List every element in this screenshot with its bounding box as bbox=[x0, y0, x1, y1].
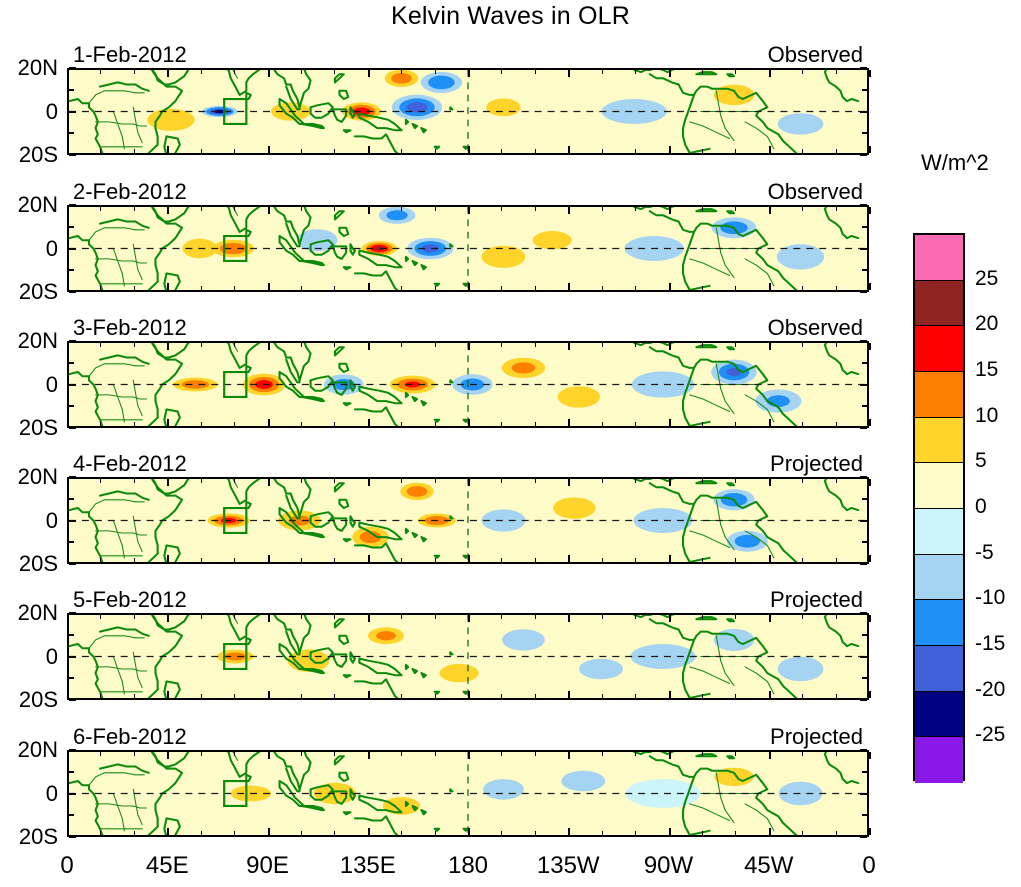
axis-tick bbox=[69, 677, 74, 679]
y-tick-label: 0 bbox=[0, 644, 58, 670]
axis-minor-tick bbox=[201, 343, 202, 347]
axis-minor-tick bbox=[535, 831, 536, 835]
axis-tick bbox=[860, 248, 867, 250]
axis-minor-tick bbox=[602, 558, 603, 562]
axis-minor-tick bbox=[735, 694, 736, 698]
axis-tick bbox=[167, 752, 169, 759]
axis-minor-tick bbox=[401, 558, 402, 562]
axis-tick bbox=[860, 111, 867, 113]
axis-tick bbox=[69, 656, 76, 658]
axis-tick bbox=[860, 836, 867, 838]
map-panel-3 bbox=[67, 341, 869, 428]
axis-minor-tick bbox=[535, 558, 536, 562]
axis-minor-tick bbox=[735, 149, 736, 153]
axis-tick bbox=[769, 146, 771, 153]
y-tick-label: 0 bbox=[0, 508, 58, 534]
axis-minor-tick bbox=[100, 479, 101, 483]
axis-tick bbox=[862, 677, 867, 679]
axis-minor-tick bbox=[635, 422, 636, 426]
axis-tick bbox=[860, 476, 867, 478]
axis-minor-tick bbox=[836, 694, 837, 698]
axis-tick bbox=[669, 479, 671, 486]
axis-tick bbox=[69, 154, 76, 156]
axis-minor-tick bbox=[401, 343, 402, 347]
axis-tick bbox=[368, 752, 370, 759]
axis-tick bbox=[860, 612, 867, 614]
axis-tick bbox=[860, 749, 867, 751]
axis-tick bbox=[368, 146, 370, 153]
axis-tick bbox=[568, 419, 570, 426]
axis-tick bbox=[669, 752, 671, 759]
axis-minor-tick bbox=[334, 70, 335, 74]
y-tick-label: 20N bbox=[0, 600, 58, 626]
axis-tick bbox=[368, 419, 370, 426]
axis-tick bbox=[368, 615, 370, 622]
axis-minor-tick bbox=[201, 615, 202, 619]
axis-tick bbox=[862, 132, 867, 134]
axis-minor-tick bbox=[702, 615, 703, 619]
axis-tick bbox=[869, 615, 871, 622]
axis-tick bbox=[69, 132, 74, 134]
axis-minor-tick bbox=[201, 286, 202, 290]
axis-minor-tick bbox=[234, 558, 235, 562]
axis-tick bbox=[69, 269, 74, 271]
axis-tick bbox=[368, 70, 370, 77]
axis-tick bbox=[568, 479, 570, 486]
axis-minor-tick bbox=[535, 422, 536, 426]
x-tick-label: 90W bbox=[614, 852, 724, 880]
axis-minor-tick bbox=[602, 615, 603, 619]
y-tick-label: 20N bbox=[0, 464, 58, 490]
axis-tick bbox=[669, 146, 671, 153]
axis-tick bbox=[869, 419, 871, 426]
axis-minor-tick bbox=[301, 70, 302, 74]
axis-tick bbox=[869, 479, 871, 486]
axis-tick bbox=[860, 656, 867, 658]
axis-tick bbox=[769, 691, 771, 698]
axis-tick bbox=[468, 146, 470, 153]
axis-minor-tick bbox=[234, 149, 235, 153]
axis-minor-tick bbox=[501, 207, 502, 211]
axis-tick bbox=[167, 555, 169, 562]
x-tick-label: 45W bbox=[714, 852, 824, 880]
colorbar-band-9 bbox=[915, 646, 963, 692]
axis-tick bbox=[69, 89, 74, 91]
axis-tick bbox=[468, 828, 470, 835]
colorbar-tick-label: 5 bbox=[975, 449, 987, 473]
y-tick-label: 20S bbox=[0, 142, 58, 168]
panel-mode-label-3: Observed bbox=[67, 315, 863, 341]
axis-tick bbox=[669, 555, 671, 562]
axis-tick bbox=[268, 615, 270, 622]
axis-minor-tick bbox=[635, 831, 636, 835]
axis-tick bbox=[568, 752, 570, 759]
axis-minor-tick bbox=[635, 694, 636, 698]
olr-field bbox=[69, 479, 867, 562]
axis-tick bbox=[69, 699, 76, 701]
axis-tick bbox=[468, 752, 470, 759]
axis-minor-tick bbox=[802, 752, 803, 756]
axis-minor-tick bbox=[100, 343, 101, 347]
axis-minor-tick bbox=[334, 343, 335, 347]
axis-tick bbox=[268, 283, 270, 290]
axis-tick bbox=[769, 207, 771, 214]
axis-minor-tick bbox=[635, 343, 636, 347]
axis-minor-tick bbox=[100, 207, 101, 211]
axis-minor-tick bbox=[802, 207, 803, 211]
axis-minor-tick bbox=[435, 831, 436, 835]
axis-minor-tick bbox=[602, 149, 603, 153]
axis-tick bbox=[869, 207, 871, 214]
axis-minor-tick bbox=[635, 207, 636, 211]
axis-tick bbox=[69, 248, 76, 250]
axis-tick bbox=[69, 405, 74, 407]
x-tick-label: 180 bbox=[413, 852, 523, 880]
axis-tick bbox=[69, 111, 76, 113]
panel-mode-label-5: Projected bbox=[67, 587, 863, 613]
axis-minor-tick bbox=[802, 343, 803, 347]
axis-tick bbox=[862, 814, 867, 816]
axis-minor-tick bbox=[334, 422, 335, 426]
axis-minor-tick bbox=[234, 752, 235, 756]
colorbar-tick-label: 0 bbox=[975, 495, 987, 519]
axis-tick bbox=[862, 541, 867, 543]
axis-tick bbox=[69, 793, 76, 795]
axis-tick bbox=[568, 828, 570, 835]
axis-minor-tick bbox=[501, 831, 502, 835]
y-tick-label: 20N bbox=[0, 737, 58, 763]
axis-minor-tick bbox=[100, 831, 101, 835]
axis-minor-tick bbox=[836, 343, 837, 347]
axis-tick bbox=[860, 793, 867, 795]
axis-tick bbox=[669, 207, 671, 214]
axis-minor-tick bbox=[702, 70, 703, 74]
axis-minor-tick bbox=[836, 207, 837, 211]
axis-minor-tick bbox=[401, 752, 402, 756]
axis-minor-tick bbox=[201, 558, 202, 562]
axis-minor-tick bbox=[201, 831, 202, 835]
x-tick-label: 0 bbox=[12, 852, 122, 880]
colorbar-tick-label: -10 bbox=[975, 586, 1005, 610]
y-tick-label: 20S bbox=[0, 687, 58, 713]
axis-minor-tick bbox=[836, 558, 837, 562]
axis-minor-tick bbox=[735, 343, 736, 347]
axis-tick bbox=[167, 343, 169, 350]
axis-minor-tick bbox=[836, 479, 837, 483]
axis-tick bbox=[167, 70, 169, 77]
colorbar-band-8 bbox=[915, 600, 963, 646]
axis-minor-tick bbox=[234, 286, 235, 290]
axis-minor-tick bbox=[100, 615, 101, 619]
axis-minor-tick bbox=[435, 694, 436, 698]
axis-tick bbox=[67, 343, 69, 350]
axis-minor-tick bbox=[234, 694, 235, 698]
axis-tick bbox=[860, 520, 867, 522]
y-tick-label: 20S bbox=[0, 415, 58, 441]
axis-minor-tick bbox=[535, 694, 536, 698]
axis-tick bbox=[669, 70, 671, 77]
axis-tick bbox=[769, 283, 771, 290]
axis-minor-tick bbox=[702, 422, 703, 426]
map-panel-2 bbox=[67, 205, 869, 292]
axis-tick bbox=[167, 419, 169, 426]
colorbar-tick-label: 10 bbox=[975, 404, 998, 428]
colorbar-tick-label: 15 bbox=[975, 358, 998, 382]
axis-tick bbox=[769, 752, 771, 759]
x-tick-label: 45E bbox=[112, 852, 222, 880]
axis-tick bbox=[862, 362, 867, 364]
axis-tick bbox=[69, 520, 76, 522]
axis-minor-tick bbox=[501, 558, 502, 562]
axis-tick bbox=[67, 146, 69, 153]
axis-tick bbox=[268, 207, 270, 214]
axis-minor-tick bbox=[501, 752, 502, 756]
axis-tick bbox=[869, 555, 871, 562]
axis-minor-tick bbox=[836, 752, 837, 756]
axis-tick bbox=[268, 752, 270, 759]
axis-tick bbox=[368, 479, 370, 486]
axis-minor-tick bbox=[134, 752, 135, 756]
colorbar-tick-label: -20 bbox=[975, 678, 1005, 702]
axis-minor-tick bbox=[134, 70, 135, 74]
axis-minor-tick bbox=[735, 286, 736, 290]
colorbar bbox=[913, 233, 965, 781]
axis-tick bbox=[368, 828, 370, 835]
axis-tick bbox=[869, 691, 871, 698]
axis-minor-tick bbox=[735, 70, 736, 74]
axis-tick bbox=[568, 691, 570, 698]
axis-tick bbox=[869, 343, 871, 350]
axis-minor-tick bbox=[401, 615, 402, 619]
axis-minor-tick bbox=[401, 149, 402, 153]
axis-minor-tick bbox=[201, 149, 202, 153]
axis-minor-tick bbox=[401, 286, 402, 290]
axis-tick bbox=[862, 226, 867, 228]
axis-tick bbox=[860, 204, 867, 206]
axis-minor-tick bbox=[735, 422, 736, 426]
axis-tick bbox=[368, 207, 370, 214]
axis-minor-tick bbox=[602, 831, 603, 835]
axis-minor-tick bbox=[802, 70, 803, 74]
axis-minor-tick bbox=[735, 831, 736, 835]
axis-tick bbox=[568, 207, 570, 214]
axis-minor-tick bbox=[134, 831, 135, 835]
colorbar-band-5 bbox=[915, 463, 963, 509]
axis-minor-tick bbox=[435, 70, 436, 74]
axis-minor-tick bbox=[100, 752, 101, 756]
axis-minor-tick bbox=[301, 694, 302, 698]
axis-minor-tick bbox=[635, 149, 636, 153]
axis-tick bbox=[167, 691, 169, 698]
axis-tick bbox=[669, 615, 671, 622]
axis-tick bbox=[69, 226, 74, 228]
axis-minor-tick bbox=[836, 422, 837, 426]
axis-minor-tick bbox=[401, 207, 402, 211]
colorbar-tick-label: -25 bbox=[975, 723, 1005, 747]
axis-minor-tick bbox=[435, 558, 436, 562]
axis-minor-tick bbox=[836, 831, 837, 835]
axis-tick bbox=[69, 427, 76, 429]
axis-tick bbox=[568, 343, 570, 350]
axis-minor-tick bbox=[602, 207, 603, 211]
colorbar-band-7 bbox=[915, 555, 963, 601]
panel-mode-label-1: Observed bbox=[67, 42, 863, 68]
axis-minor-tick bbox=[802, 831, 803, 835]
axis-minor-tick bbox=[301, 831, 302, 835]
axis-minor-tick bbox=[836, 286, 837, 290]
panel-mode-label-2: Observed bbox=[67, 179, 863, 205]
colorbar-tick-label: -15 bbox=[975, 632, 1005, 656]
axis-minor-tick bbox=[234, 422, 235, 426]
axis-minor-tick bbox=[702, 343, 703, 347]
x-tick-label: 135E bbox=[313, 852, 423, 880]
axis-tick bbox=[67, 828, 69, 835]
y-tick-label: 20N bbox=[0, 328, 58, 354]
axis-tick bbox=[468, 419, 470, 426]
y-tick-label: 0 bbox=[0, 781, 58, 807]
axis-tick bbox=[769, 828, 771, 835]
axis-tick bbox=[69, 362, 74, 364]
axis-tick bbox=[69, 340, 76, 342]
axis-minor-tick bbox=[535, 70, 536, 74]
axis-minor-tick bbox=[535, 343, 536, 347]
axis-tick bbox=[862, 771, 867, 773]
panel-mode-label-6: Projected bbox=[67, 724, 863, 750]
axis-tick bbox=[860, 427, 867, 429]
axis-tick bbox=[869, 146, 871, 153]
colorbar-unit-label: W/m^2 bbox=[921, 150, 989, 176]
axis-tick bbox=[860, 154, 867, 156]
axis-minor-tick bbox=[100, 558, 101, 562]
axis-tick bbox=[669, 828, 671, 835]
axis-tick bbox=[568, 70, 570, 77]
y-tick-label: 20S bbox=[0, 279, 58, 305]
axis-tick bbox=[468, 555, 470, 562]
axis-tick bbox=[368, 343, 370, 350]
axis-tick bbox=[862, 405, 867, 407]
axis-tick bbox=[268, 555, 270, 562]
axis-tick bbox=[67, 70, 69, 77]
axis-tick bbox=[67, 479, 69, 486]
axis-minor-tick bbox=[635, 752, 636, 756]
axis-minor-tick bbox=[100, 422, 101, 426]
axis-minor-tick bbox=[100, 286, 101, 290]
axis-tick bbox=[67, 691, 69, 698]
axis-minor-tick bbox=[635, 479, 636, 483]
axis-minor-tick bbox=[134, 615, 135, 619]
axis-minor-tick bbox=[201, 479, 202, 483]
axis-minor-tick bbox=[735, 752, 736, 756]
axis-minor-tick bbox=[401, 479, 402, 483]
colorbar-tick-label: 25 bbox=[975, 267, 998, 291]
axis-tick bbox=[67, 615, 69, 622]
axis-tick bbox=[167, 479, 169, 486]
axis-minor-tick bbox=[234, 207, 235, 211]
axis-tick bbox=[268, 70, 270, 77]
axis-minor-tick bbox=[702, 149, 703, 153]
y-tick-label: 20N bbox=[0, 192, 58, 218]
y-tick-label: 20S bbox=[0, 824, 58, 850]
axis-tick bbox=[568, 555, 570, 562]
axis-tick bbox=[769, 419, 771, 426]
axis-tick bbox=[568, 615, 570, 622]
axis-minor-tick bbox=[435, 343, 436, 347]
axis-minor-tick bbox=[334, 831, 335, 835]
axis-minor-tick bbox=[702, 479, 703, 483]
olr-field bbox=[69, 70, 867, 153]
axis-minor-tick bbox=[802, 422, 803, 426]
axis-minor-tick bbox=[501, 615, 502, 619]
axis-minor-tick bbox=[301, 207, 302, 211]
axis-tick bbox=[167, 828, 169, 835]
colorbar-band-3 bbox=[915, 372, 963, 418]
x-tick-label: 135W bbox=[513, 852, 623, 880]
axis-tick bbox=[860, 563, 867, 565]
axis-minor-tick bbox=[802, 558, 803, 562]
axis-tick bbox=[769, 343, 771, 350]
axis-tick bbox=[69, 771, 74, 773]
axis-minor-tick bbox=[635, 286, 636, 290]
axis-tick bbox=[769, 615, 771, 622]
axis-minor-tick bbox=[134, 422, 135, 426]
axis-tick bbox=[167, 283, 169, 290]
axis-tick bbox=[869, 752, 871, 759]
axis-minor-tick bbox=[201, 422, 202, 426]
y-tick-label: 0 bbox=[0, 372, 58, 398]
axis-tick bbox=[869, 70, 871, 77]
axis-minor-tick bbox=[134, 149, 135, 153]
axis-tick bbox=[69, 541, 74, 543]
axis-minor-tick bbox=[635, 70, 636, 74]
axis-minor-tick bbox=[501, 70, 502, 74]
y-tick-label: 20N bbox=[0, 55, 58, 81]
axis-minor-tick bbox=[501, 286, 502, 290]
axis-minor-tick bbox=[602, 422, 603, 426]
axis-minor-tick bbox=[134, 479, 135, 483]
axis-minor-tick bbox=[836, 615, 837, 619]
axis-tick bbox=[67, 207, 69, 214]
axis-minor-tick bbox=[301, 286, 302, 290]
axis-minor-tick bbox=[535, 207, 536, 211]
axis-tick bbox=[368, 555, 370, 562]
axis-tick bbox=[167, 146, 169, 153]
axis-tick bbox=[69, 476, 76, 478]
axis-minor-tick bbox=[401, 694, 402, 698]
axis-minor-tick bbox=[535, 615, 536, 619]
axis-minor-tick bbox=[334, 207, 335, 211]
axis-tick bbox=[862, 89, 867, 91]
axis-tick bbox=[860, 67, 867, 69]
axis-tick bbox=[69, 563, 76, 565]
axis-tick bbox=[67, 555, 69, 562]
axis-minor-tick bbox=[435, 207, 436, 211]
axis-minor-tick bbox=[501, 149, 502, 153]
y-tick-label: 0 bbox=[0, 236, 58, 262]
axis-minor-tick bbox=[702, 558, 703, 562]
axis-minor-tick bbox=[802, 149, 803, 153]
axis-minor-tick bbox=[602, 694, 603, 698]
axis-minor-tick bbox=[836, 149, 837, 153]
axis-tick bbox=[69, 612, 76, 614]
axis-minor-tick bbox=[234, 615, 235, 619]
olr-field bbox=[69, 752, 867, 835]
axis-tick bbox=[862, 498, 867, 500]
axis-minor-tick bbox=[535, 479, 536, 483]
axis-tick bbox=[769, 70, 771, 77]
axis-minor-tick bbox=[134, 286, 135, 290]
map-panel-1 bbox=[67, 68, 869, 155]
axis-minor-tick bbox=[836, 70, 837, 74]
